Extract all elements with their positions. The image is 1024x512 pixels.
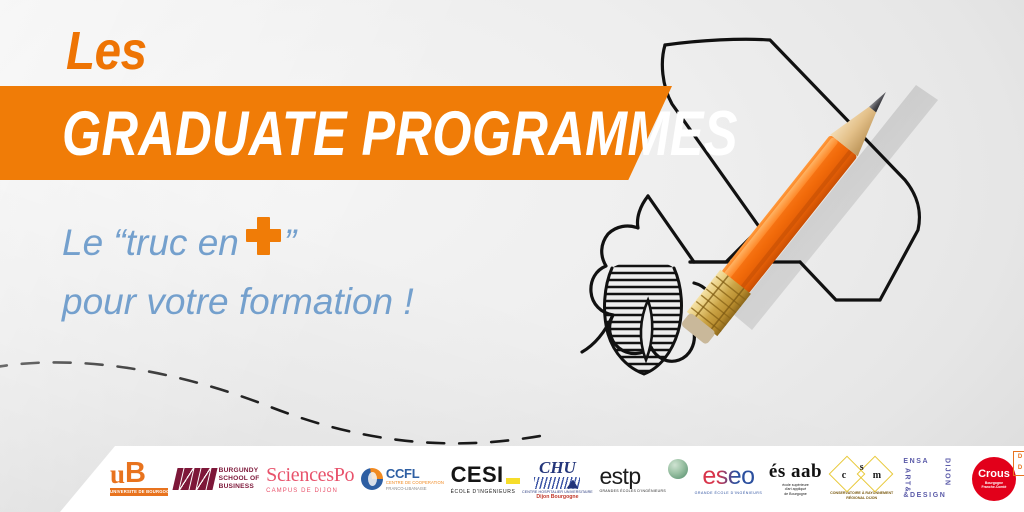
logo-cesi[interactable]: CESI ÉCOLE D'INGÉNIEURS xyxy=(451,453,516,505)
ub-letter-b: B xyxy=(125,462,146,485)
csm-letter-s: s xyxy=(860,462,864,473)
promo-banner: Les GRADUATE PROGRAMMES Le “truc en” pou… xyxy=(0,0,1024,512)
ub-mark: u B D D xyxy=(110,462,146,485)
cesi-tagline: ÉCOLE D'INGÉNIEURS xyxy=(451,489,516,495)
page-title: GRADUATE PROGRAMMES xyxy=(62,95,738,173)
logo-sciences-po[interactable]: SciencesPo CAMPUS DE DIJON xyxy=(266,453,354,505)
logo-chu-dijon-bourgogne[interactable]: CHU CENTRE HOSPITALIER UNIVERSITAIRE Dij… xyxy=(522,453,593,505)
subtitle-line-2: pour votre formation ! xyxy=(62,283,414,320)
cesi-name: CESI xyxy=(451,462,504,487)
crous-sub-2: Franche-Comté xyxy=(982,485,1007,489)
ccfl-wordmark: CCFL CENTRE DE COOPERATION FRANCO-LIBANA… xyxy=(386,467,444,492)
bsb-line-1: BURGUNDY xyxy=(219,467,260,475)
ensa-word-dijon: DIJON xyxy=(943,458,950,486)
eseo-tagline: GRANDE ÉCOLE D'INGÉNIEURS xyxy=(695,491,763,495)
cesi-wordmark: CESI xyxy=(451,464,504,486)
ensa-wordmark-grid: ENSA DIJON ART& &DESIGN xyxy=(901,454,965,504)
ub-letter-u: u xyxy=(110,463,124,486)
crous-wordmark: Crous xyxy=(978,469,1010,480)
logo-esaab[interactable]: és aab école supérieure d'art appliqué d… xyxy=(769,453,822,505)
partner-logo-row: u B D D UNIVERSITE DE BOURGOGNE xyxy=(110,450,1016,508)
csm-letter-m: m xyxy=(873,470,881,481)
ensa-word-design: &DESIGN xyxy=(903,492,946,499)
bsb-line-3: BUSINESS xyxy=(219,483,260,491)
ub-box-icon: D D xyxy=(1013,451,1024,476)
esaab-sub-3: de Bourgogne xyxy=(782,492,809,497)
subtitle-text-before: Le “truc en xyxy=(62,222,239,263)
dashed-flight-trail xyxy=(0,362,540,443)
ensa-word-ensa: ENSA xyxy=(903,458,929,465)
csm-sub-2: RÉGIONAL DIJON xyxy=(830,496,893,501)
bsb-mark-icon xyxy=(175,468,215,490)
csm-letter-c: c xyxy=(842,470,846,481)
sciences-po-wordmark: SciencesPo xyxy=(266,465,354,485)
bsb-line-2: SCHOOL OF xyxy=(219,475,260,483)
estp-name: estp xyxy=(599,466,666,487)
csm-tagline: CONSERVATOIRE À RAYONNEMENT RÉGIONAL DIJ… xyxy=(830,491,893,500)
ccfl-name: CCFL xyxy=(386,467,444,480)
subtitle-line-1: Le “truc en” xyxy=(62,224,296,261)
ensa-word-art: ART& xyxy=(903,468,910,493)
chu-wordmark: CHU xyxy=(539,459,576,476)
logo-eseo[interactable]: eseo GRANDE ÉCOLE D'INGÉNIEURS xyxy=(695,453,763,505)
estp-wordmark: estp GRANDES ÉCOLES D'INGÉNIEURS xyxy=(599,453,666,493)
pencil-shadow xyxy=(733,85,938,330)
logo-ub[interactable]: u B D D UNIVERSITE DE BOURGOGNE xyxy=(110,453,168,505)
logo-ccfl[interactable]: CCFL CENTRE DE COOPERATION FRANCO-LIBANA… xyxy=(361,453,444,505)
ub-box-letter-1: D xyxy=(1014,452,1024,463)
partner-logo-bar: u B D D UNIVERSITE DE BOURGOGNE xyxy=(0,446,1024,512)
logo-csm[interactable]: c s m CONSERVATOIRE À RAYONNEMENT RÉGION… xyxy=(829,453,895,505)
chu-building-icon xyxy=(534,477,580,489)
esaab-tagline: école supérieure d'art appliqué de Bourg… xyxy=(782,483,809,497)
kicker-text: Les xyxy=(66,24,147,78)
plus-icon xyxy=(246,225,280,259)
logo-ensa-dijon[interactable]: ENSA DIJON ART& &DESIGN xyxy=(901,453,965,505)
esaab-wordmark: és aab xyxy=(769,462,822,481)
subtitle-text-after: ” xyxy=(284,222,296,263)
chu-sub-2: Dijon Bourgogne xyxy=(536,494,578,500)
eseo-wordmark: eseo xyxy=(702,464,754,489)
bsb-wordmark: BURGUNDY SCHOOL OF BUSINESS xyxy=(219,467,260,491)
crous-tagline: Bourgogne Franche-Comté xyxy=(982,481,1007,489)
sphere-icon xyxy=(668,459,688,479)
diamond-icon: c s m xyxy=(829,457,895,491)
logo-estp[interactable]: estp GRANDES ÉCOLES D'INGÉNIEURS xyxy=(599,453,688,505)
estp-tagline: GRANDES ÉCOLES D'INGÉNIEURS xyxy=(599,489,666,493)
cesi-accent-icon xyxy=(506,478,520,484)
logo-burgundy-school-of-business[interactable]: BURGUNDY SCHOOL OF BUSINESS xyxy=(175,453,260,505)
ub-box-letter-2: D xyxy=(1014,463,1024,474)
crous-circle-icon: Crous Bourgogne Franche-Comté xyxy=(972,457,1016,501)
ccfl-sub-2: FRANCO-LIBANAISE xyxy=(386,486,444,492)
globe-icon xyxy=(361,468,383,490)
sciences-po-campus: CAMPUS DE DIJON xyxy=(266,488,338,494)
logo-crous[interactable]: Crous Bourgogne Franche-Comté xyxy=(972,453,1016,505)
